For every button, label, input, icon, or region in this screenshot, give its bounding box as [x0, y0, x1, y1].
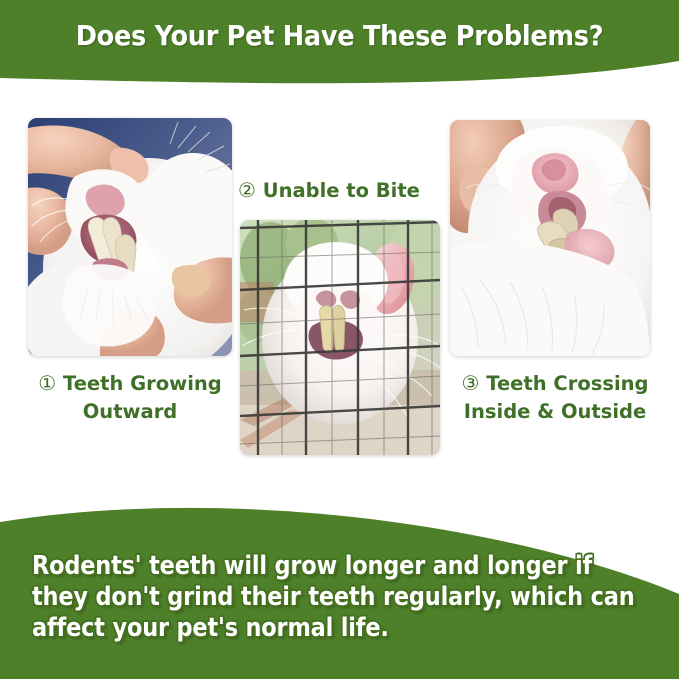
header-banner: Does Your Pet Have These Problems?	[0, 0, 679, 92]
footer-message: Rodents' teeth will grow longer and long…	[32, 551, 560, 644]
footer-line-1: Rodents' teeth will grow longer and long…	[32, 551, 560, 582]
problem-2-number: ②	[238, 178, 256, 202]
problem-3-label-line2: Inside & Outside	[464, 400, 646, 423]
page-title: Does Your Pet Have These Problems?	[24, 20, 655, 52]
footer-line-2: they don't grind their teeth regularly, …	[32, 582, 560, 613]
problem-1-label-line2: Outward	[83, 400, 178, 423]
problem-photo-teeth-crossing	[450, 120, 650, 356]
problem-3-label-line1: Teeth Crossing	[486, 372, 648, 395]
problem-photo-unable-to-bite	[240, 220, 440, 455]
problem-2-label-line1: Unable to Bite	[263, 179, 420, 202]
problem-1-number: ①	[38, 371, 56, 395]
problem-1-label-line1: Teeth Growing	[63, 372, 222, 395]
infographic-page: Does Your Pet Have These Problems?	[0, 0, 679, 679]
caption-problem-2: ② Unable to Bite	[238, 176, 446, 205]
problem-photo-teeth-growing-outward	[28, 118, 232, 356]
caption-problem-3: ③ Teeth Crossing Inside & Outside	[444, 369, 666, 426]
caption-problem-1: ① Teeth Growing Outward	[18, 369, 242, 426]
footer-banner: Rodents' teeth will grow longer and long…	[0, 498, 679, 679]
footer-line-3: affect your pet's normal life.	[32, 613, 560, 644]
problem-3-number: ③	[462, 371, 480, 395]
